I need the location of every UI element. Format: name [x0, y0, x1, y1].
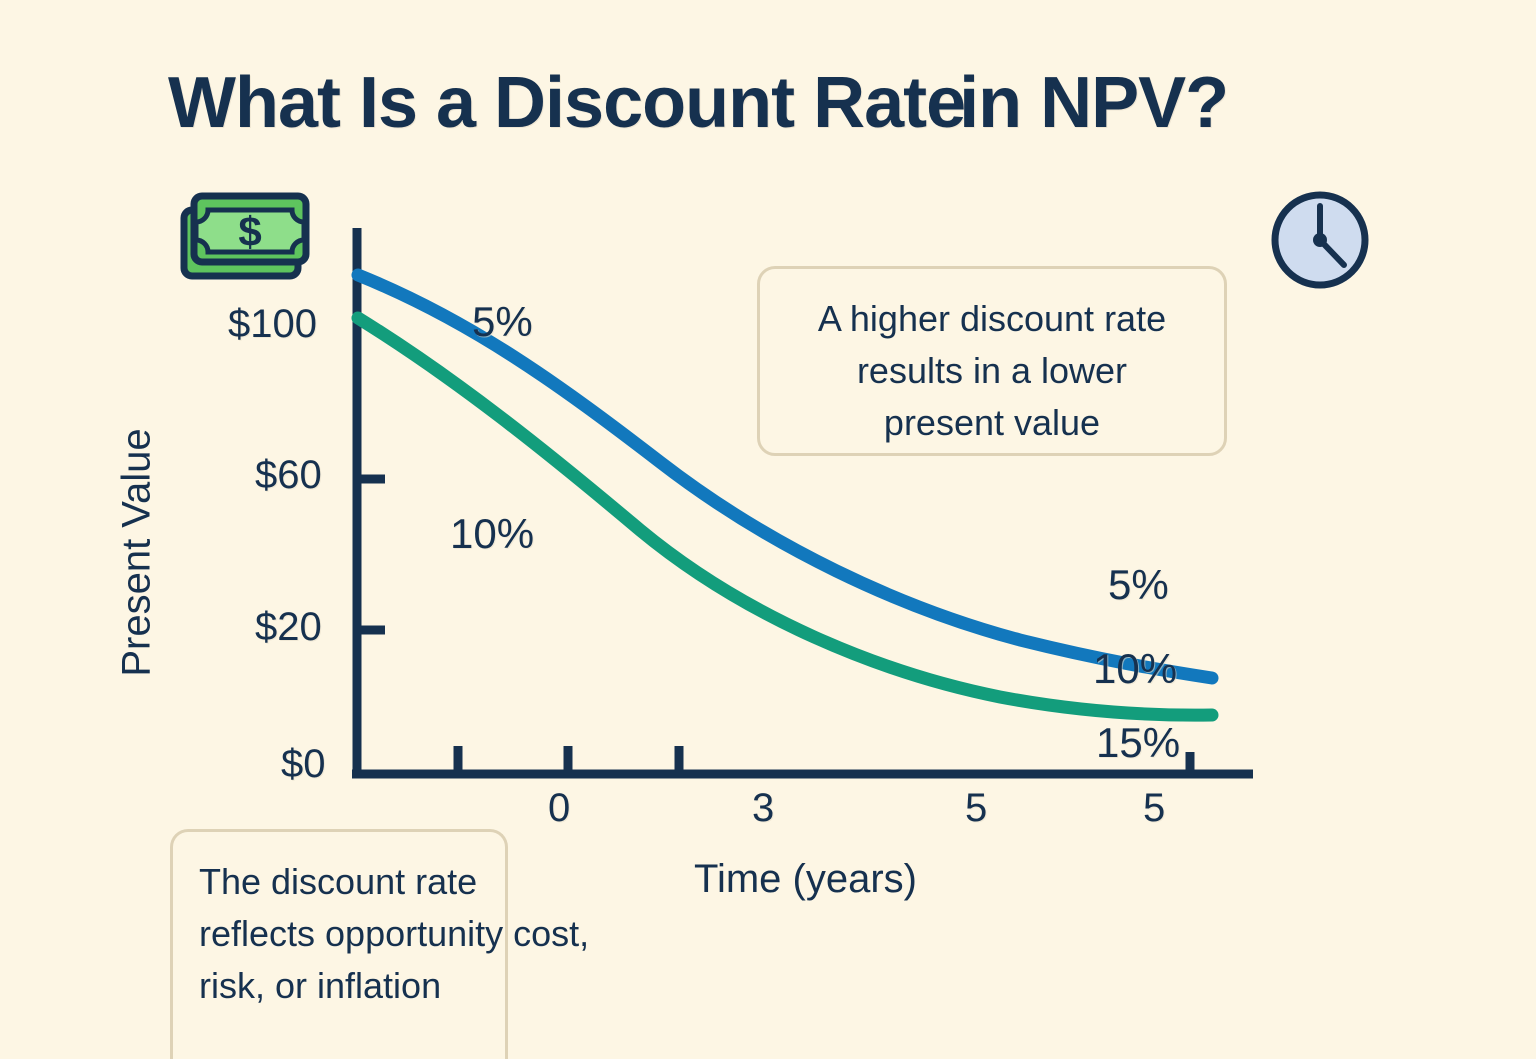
infographic-canvas: What Is a Discount Ratein NPV? $ — [0, 0, 1536, 1024]
callout-higher-rate-line1: A higher discount rate — [786, 293, 1198, 345]
callout-opportunity-cost-line2: reflects opportunity cost, — [199, 908, 479, 960]
series-label-10pct-right: 10% — [1093, 645, 1177, 693]
y-axis-title: Present Value — [115, 403, 160, 703]
callout-opportunity-cost-line1: The discount rate — [199, 856, 479, 908]
x-tick-label-1: 3 — [752, 786, 774, 831]
y-tick-label-100: $100 — [228, 302, 317, 347]
y-tick-label-60: $60 — [255, 453, 322, 498]
x-tick-label-3: 5 — [1143, 786, 1165, 831]
series-label-5pct-right: 5% — [1108, 561, 1169, 609]
callout-higher-rate-line2: results in a lower — [786, 345, 1198, 397]
series-label-15pct-right: 15% — [1096, 719, 1180, 767]
x-tick-label-2: 5 — [965, 786, 987, 831]
x-tick-label-0: 0 — [548, 786, 570, 831]
y-tick-label-0: $0 — [281, 742, 326, 787]
x-axis-title: Time (years) — [694, 857, 917, 902]
callout-opportunity-cost: The discount rate reflects opportunity c… — [170, 829, 508, 1059]
series-label-5pct-inline: 5% — [472, 298, 533, 346]
callout-opportunity-cost-line3: risk, or inflation — [199, 960, 479, 1012]
callout-higher-rate-line3: present value — [786, 397, 1198, 449]
callout-higher-rate: A higher discount rate results in a lowe… — [757, 266, 1227, 456]
y-tick-label-20: $20 — [255, 605, 322, 650]
series-label-10pct-inline: 10% — [450, 510, 534, 558]
